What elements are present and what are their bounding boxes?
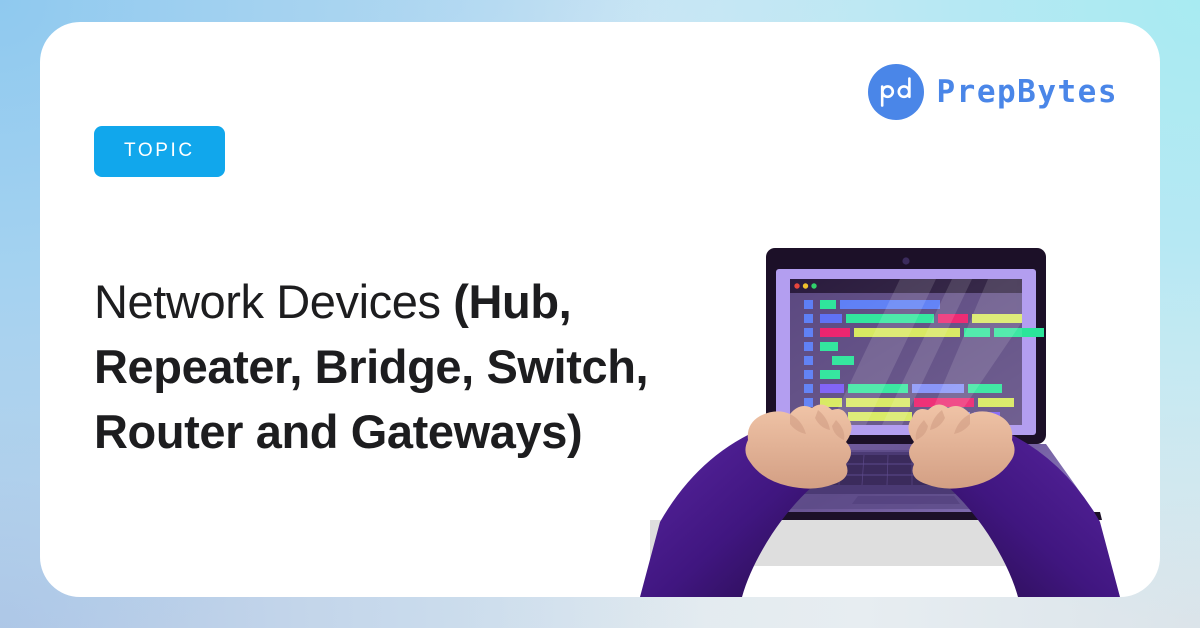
- topic-badge: TOPIC: [94, 126, 225, 177]
- person-typing-on-laptop-illustration: [600, 22, 1160, 597]
- page-title-light: Network Devices: [94, 275, 453, 328]
- trackpad: [852, 496, 960, 504]
- poster-canvas: PrepBytes TOPIC Network Devices (Hub, Re…: [0, 0, 1200, 628]
- content-card: PrepBytes TOPIC Network Devices (Hub, Re…: [40, 22, 1160, 597]
- code-editor-window: [790, 279, 1044, 425]
- laptop-camera-dot: [902, 257, 909, 264]
